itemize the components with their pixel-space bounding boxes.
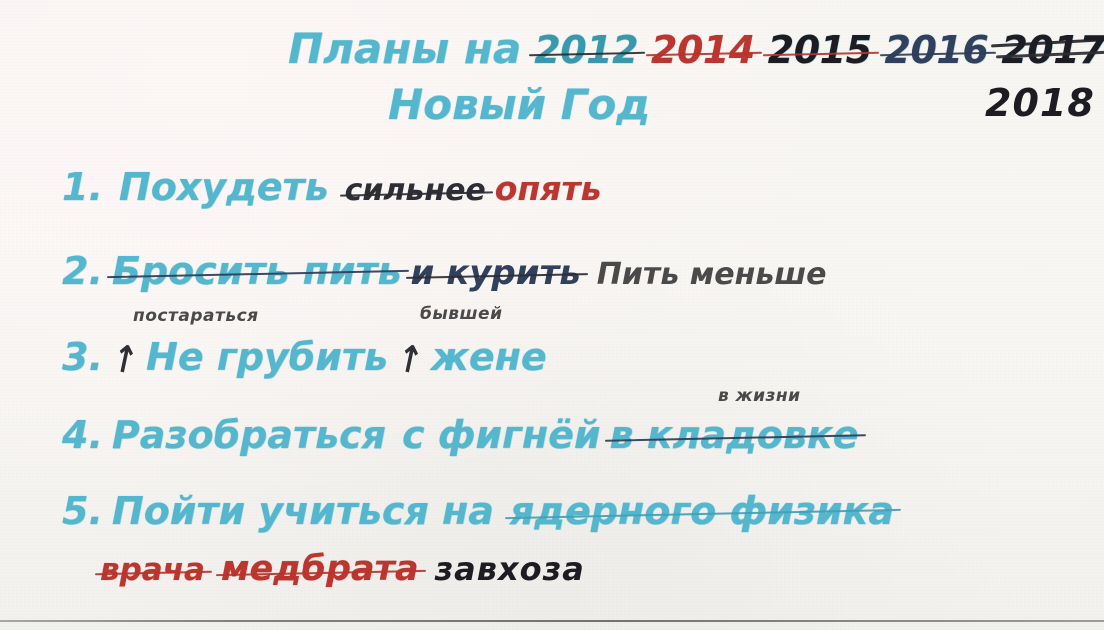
list-item-continuation: врачамедбратазавхоза — [100, 548, 585, 587]
year-2012: 2012 — [534, 28, 638, 72]
item3-text-ne-grubit: Не грубить — [146, 338, 388, 376]
paper-bottom-edge — [0, 620, 1104, 622]
item6-text-vracha: врача — [100, 555, 205, 586]
list-item-number: 3. — [62, 335, 103, 379]
item2-text-i-kurit: и курить — [411, 256, 581, 290]
item1-text-silnee: сильнее — [345, 176, 486, 206]
list-item-number: 2. — [62, 249, 103, 293]
title-line-2: Новый Год — [388, 84, 650, 126]
item1-text-poxudet: Похудеть — [119, 168, 329, 206]
item4-text-v-kladovke: в кладовке — [610, 416, 859, 454]
annotation-byvshej: бывшей — [420, 306, 503, 323]
insert-arrow-icon: ↑ — [393, 340, 425, 382]
item4-text-s-fignyoy: с фигнёй — [402, 416, 601, 454]
list-item-number: 5. — [62, 489, 103, 533]
year-2014: 2014 — [651, 28, 755, 72]
insert-arrow-icon: ↑ — [108, 340, 140, 382]
item6-text-medbrata: медбрата — [221, 552, 419, 587]
item5-text-poyti-uchitsya: Пойти учиться на — [112, 492, 494, 530]
final-year: 2018 — [985, 84, 1095, 122]
list-item: 1.Похудетьсильнееопять — [62, 168, 601, 206]
title-line-1: Планы на20122014201520162017 — [288, 28, 1104, 70]
year-2015: 2015 — [768, 28, 872, 72]
item3-text-zhene: жене — [431, 338, 547, 376]
list-item: 3.↑Не грубить↑жене — [62, 338, 547, 376]
list-item-number: 4. — [62, 413, 103, 457]
list-item: 5.Пойти учиться наядерного физика — [62, 492, 894, 530]
item2-text-brosit-pit: Бросить пить — [112, 252, 402, 290]
list-item: 4.Разобратьсяс фигнёйв кладовке — [62, 416, 858, 454]
year-2017: 2017 — [1001, 28, 1104, 72]
item5-text-yadernogo-fizika: ядерного физика — [510, 492, 894, 530]
item4-text-razobratsya: Разобраться — [112, 416, 386, 454]
item2-text-pit-menshe: Пить меньше — [597, 260, 827, 290]
list-item-number: 1. — [62, 165, 103, 209]
item6-text-zavkhoza: завхоза — [435, 553, 585, 585]
annotation-postaratsya: постараться — [133, 308, 259, 325]
item1-text-opyat: опять — [495, 172, 602, 205]
title-prefix: Планы на — [288, 28, 521, 70]
note-page: Планы на20122014201520162017 Новый Год 2… — [0, 0, 1104, 630]
annotation-v-zhizni: в жизни — [718, 388, 801, 405]
list-item: 2.Бросить питьи куритьПить меньше — [62, 252, 827, 290]
year-2016: 2016 — [885, 28, 989, 72]
